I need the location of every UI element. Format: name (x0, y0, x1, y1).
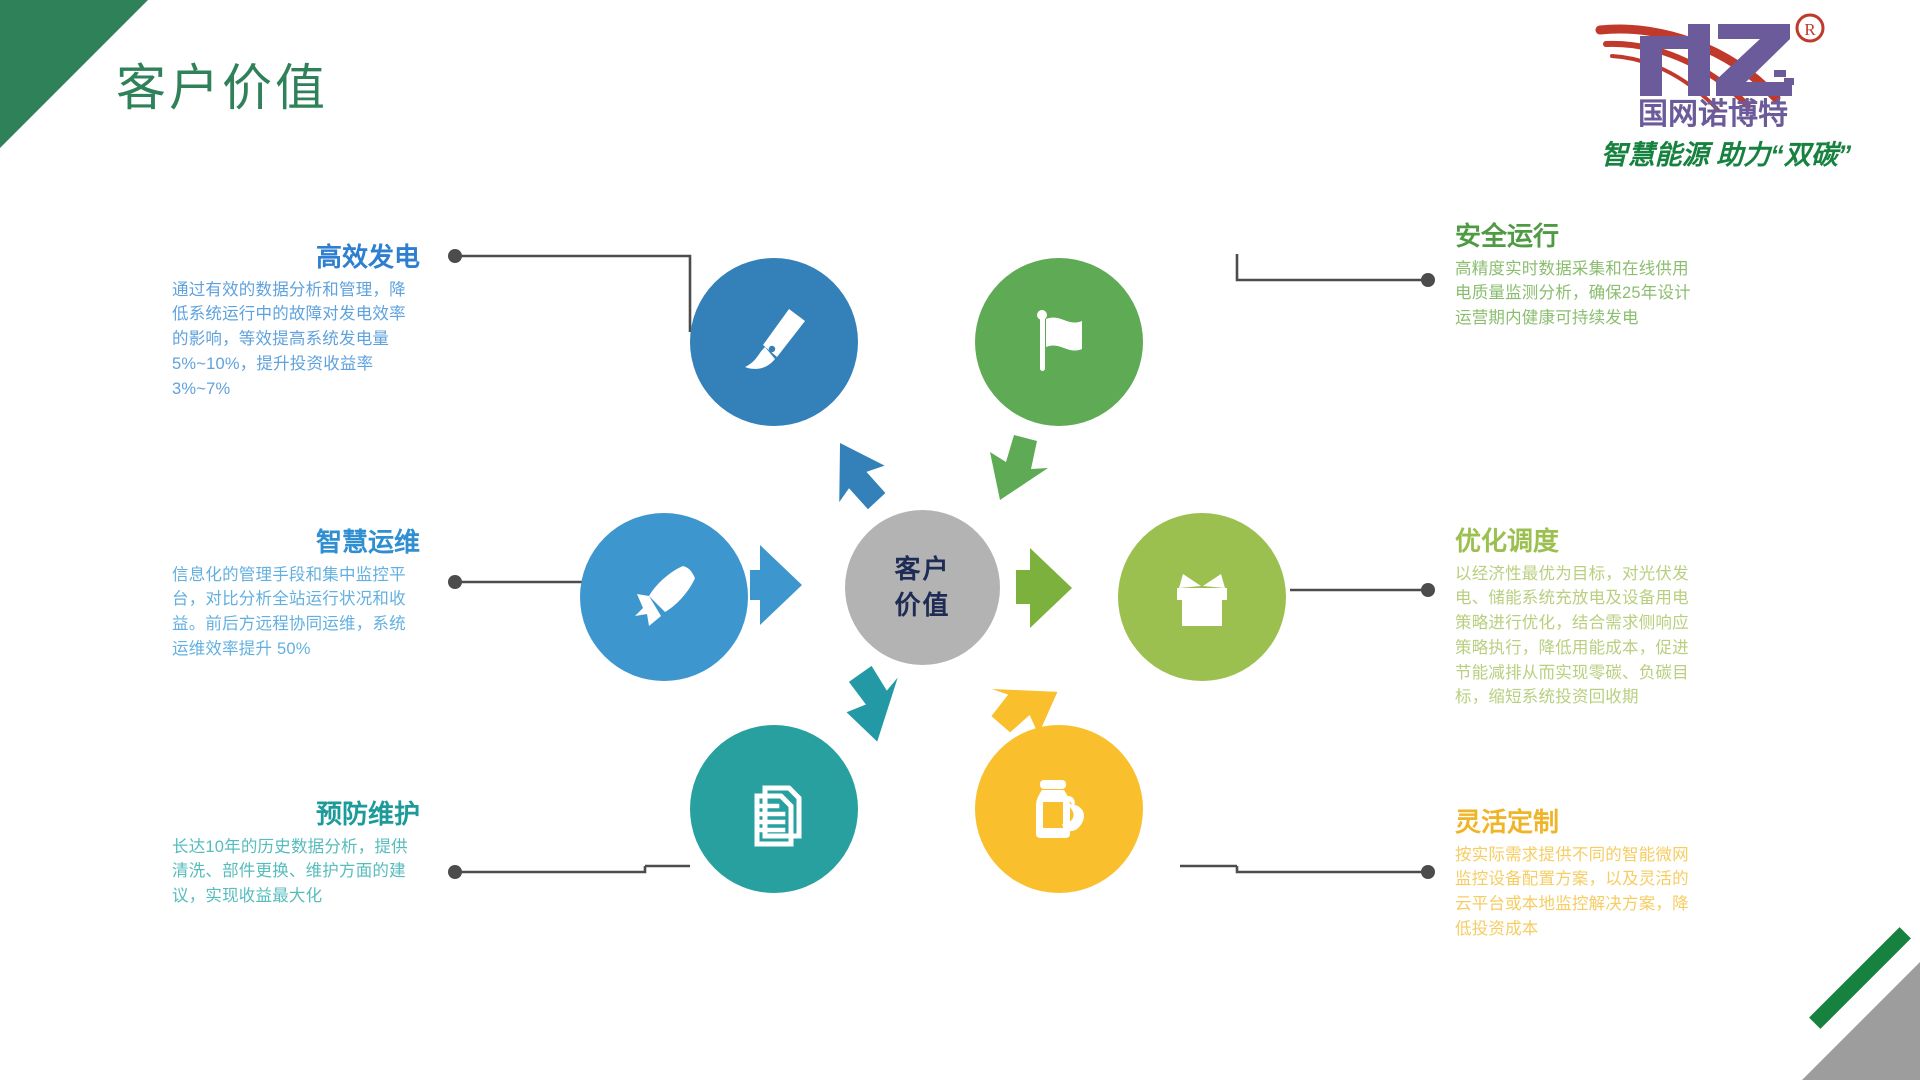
flag-icon (1016, 299, 1102, 385)
heading-flexible-customization: 灵活定制 (1455, 808, 1703, 837)
node-optimized-dispatch[interactable] (1118, 513, 1286, 681)
hub-line-2: 价值 (894, 588, 950, 623)
body-optimized-dispatch: 以经济性最优为目标，对光伏发电、储能系统充放电及设备用电策略进行优化，结合需求侧… (1455, 562, 1703, 711)
documents-icon (731, 766, 817, 852)
node-safe-operation[interactable] (975, 258, 1143, 426)
body-preventive-maintenance: 长达10年的历史数据分析，提供清洗、部件更换、维护方面的建议，实现收益最大化 (172, 835, 420, 909)
logo-company-name: 国网诺博特 (1638, 98, 1788, 131)
arrow-from-right (1016, 548, 1072, 628)
rocket-icon (621, 554, 707, 640)
text-block-efficient-generation: 高效发电 通过有效的数据分析和管理，降低系统运行中的故障对发电效率的影响，等效提… (172, 243, 420, 401)
text-block-optimized-dispatch: 优化调度 以经济性最优为目标，对光伏发电、储能系统充放电及设备用电策略进行优化，… (1455, 527, 1703, 710)
heading-safe-operation: 安全运行 (1455, 222, 1703, 251)
text-block-safe-operation: 安全运行 高精度实时数据采集和在线供用电质量监测分析，确保25年设计运营期内健康… (1455, 222, 1703, 331)
arrow-from-top-right (990, 435, 1048, 500)
heading-smart-ops: 智慧运维 (172, 528, 420, 557)
gift-box-icon (1159, 554, 1245, 640)
registered-mark-icon: R (1797, 15, 1823, 41)
heading-optimized-dispatch: 优化调度 (1455, 527, 1703, 556)
heading-preventive-maintenance: 预防维护 (172, 800, 420, 829)
body-flexible-customization: 按实际需求提供不同的智能微网监控设备配置方案，以及灵活的云平台或本地监控解决方案… (1455, 843, 1703, 942)
paintbrush-icon (731, 299, 817, 385)
text-block-smart-ops: 智慧运维 信息化的管理手段和集中监控平台，对比分析全站运行状况和收益。前后方远程… (172, 528, 420, 662)
body-safe-operation: 高精度实时数据采集和在线供用电质量监测分析，确保25年设计运营期内健康可持续发电 (1455, 257, 1703, 331)
node-smart-ops[interactable] (580, 513, 748, 681)
company-logo: R 国网诺博特 智慧能源 助力“双碳” (1578, 6, 1878, 176)
arrow-from-top-left (829, 436, 891, 514)
body-efficient-generation: 通过有效的数据分析和管理，降低系统运行中的故障对发电效率的影响，等效提高系统发电… (172, 278, 420, 402)
logo-tagline: 智慧能源 助力“双碳” (1601, 140, 1852, 170)
arrow-from-left (750, 545, 802, 625)
hub-line-1: 客户 (894, 552, 950, 587)
body-smart-ops: 信息化的管理手段和集中监控平台，对比分析全站运行状况和收益。前后方远程协同运维，… (172, 563, 420, 662)
node-efficient-generation[interactable] (690, 258, 858, 426)
text-block-preventive-maintenance: 预防维护 长达10年的历史数据分析，提供清洗、部件更换、维护方面的建议，实现收益… (172, 800, 420, 909)
heading-efficient-generation: 高效发电 (172, 243, 420, 272)
slide-canvas: 客户价值 R 国网诺博特 智慧能源 助力“双碳” (0, 0, 1920, 1080)
node-preventive-maintenance[interactable] (690, 725, 858, 893)
svg-text:R: R (1804, 20, 1816, 39)
bottle-leaf-icon (1016, 766, 1102, 852)
node-flexible-customization[interactable] (975, 725, 1143, 893)
center-hub: 客户 价值 (845, 510, 1000, 665)
text-block-flexible-customization: 灵活定制 按实际需求提供不同的智能微网监控设备配置方案，以及灵活的云平台或本地监… (1455, 808, 1703, 942)
arrow-from-bottom-left (843, 664, 903, 744)
page-title: 客户价值 (116, 48, 328, 120)
